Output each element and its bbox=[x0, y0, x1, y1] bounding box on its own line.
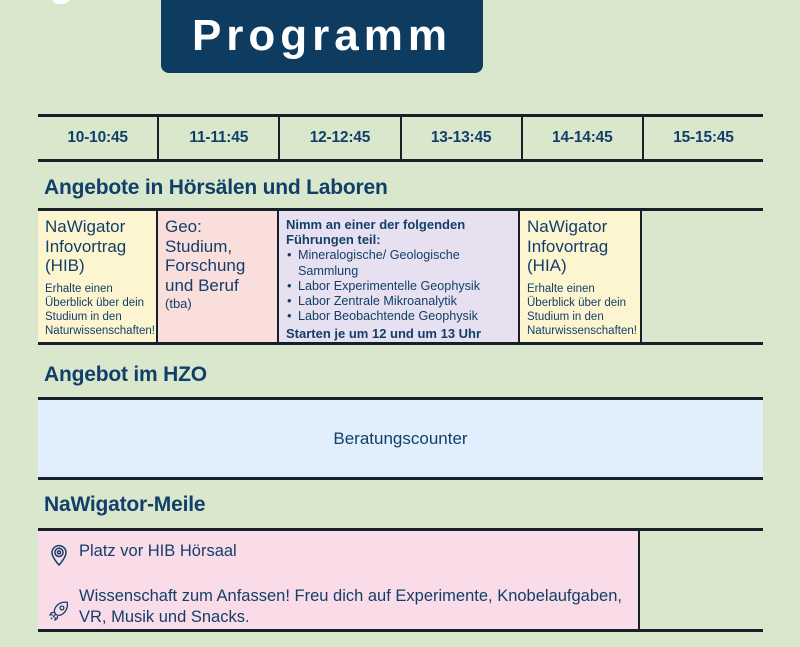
page-title: Programm bbox=[192, 8, 452, 58]
page-title-banner: Programm bbox=[161, 0, 483, 73]
time-slot-cell: 15-15:45 bbox=[644, 117, 763, 159]
list-item: Labor Beobachtende Geophysik bbox=[286, 309, 511, 324]
offer-card-nawigator-hib: NaWigator Infovortrag (HIB) Erhalte eine… bbox=[38, 211, 158, 342]
section-heading-meile: NaWigator-Meile bbox=[44, 493, 205, 517]
time-slot-cell: 11-11:45 bbox=[159, 117, 280, 159]
time-slot-cell: 12-12:45 bbox=[280, 117, 401, 159]
meile-location-text: Platz vor HIB Hörsaal bbox=[79, 541, 237, 562]
time-slot-cell: 13-13:45 bbox=[402, 117, 523, 159]
list-item: Labor Zentrale Mikroanalytik bbox=[286, 294, 511, 309]
time-slot-cell: 14-14:45 bbox=[523, 117, 644, 159]
meile-row: Platz vor HIB Hörsaal Wissenschaft zum A… bbox=[38, 528, 763, 632]
logo-fragment-icon bbox=[52, 0, 70, 4]
offer-card-title: NaWigator Infovortrag (HIB) bbox=[45, 217, 149, 276]
offer-card-note: (tba) bbox=[165, 296, 270, 312]
meile-empty-cell bbox=[640, 531, 763, 629]
programm-poster: Programm 10-10:45 11-11:45 12-12:45 13-1… bbox=[0, 0, 800, 647]
section-heading-hzo: Angebot im HZO bbox=[44, 363, 207, 387]
rocket-icon bbox=[48, 586, 70, 622]
time-slot-header-row: 10-10:45 11-11:45 12-12:45 13-13:45 14-1… bbox=[38, 114, 763, 162]
hzo-label: Beratungscounter bbox=[333, 429, 467, 449]
meile-activity-line: Wissenschaft zum Anfassen! Freu dich auf… bbox=[48, 586, 628, 629]
list-item: Labor Experimentelle Geophysik bbox=[286, 279, 511, 294]
offer-card-subtitle: Erhalte einen Überblick über dein Studiu… bbox=[527, 283, 633, 338]
meile-content: Platz vor HIB Hörsaal Wissenschaft zum A… bbox=[38, 531, 640, 629]
meile-activity-text: Wissenschaft zum Anfassen! Freu dich auf… bbox=[79, 586, 628, 629]
tour-heading: Nimm an einer der folgenden Führungen te… bbox=[286, 217, 511, 247]
map-pin-icon bbox=[48, 541, 70, 566]
list-item: Mineralogische/ Geologische Sammlung bbox=[286, 248, 511, 278]
offerings-row: NaWigator Infovortrag (HIB) Erhalte eine… bbox=[38, 208, 763, 345]
offer-card-subtitle: Erhalte einen Überblick über dein Studiu… bbox=[45, 283, 149, 338]
offer-card-nawigator-hia: NaWigator Infovortrag (HIA) Erhalte eine… bbox=[520, 211, 642, 342]
offer-card-geo: Geo: Studium, Forschung und Beruf (tba) bbox=[158, 211, 279, 342]
offer-card-title: NaWigator Infovortrag (HIA) bbox=[527, 217, 633, 276]
hzo-row: Beratungscounter bbox=[38, 397, 763, 480]
offer-card-empty bbox=[642, 211, 763, 342]
time-slot-cell: 10-10:45 bbox=[38, 117, 159, 159]
tour-start-note: Starten je um 12 und um 13 Uhr bbox=[286, 326, 511, 342]
offer-card-fuehrungen: Nimm an einer der folgenden Führungen te… bbox=[279, 211, 520, 342]
section-heading-hoersaele: Angebote in Hörsälen und Laboren bbox=[44, 176, 388, 200]
tour-list: Mineralogische/ Geologische Sammlung Lab… bbox=[286, 248, 511, 324]
meile-location-line: Platz vor HIB Hörsaal bbox=[48, 541, 628, 566]
offer-card-title: Geo: Studium, Forschung und Beruf bbox=[165, 217, 270, 296]
